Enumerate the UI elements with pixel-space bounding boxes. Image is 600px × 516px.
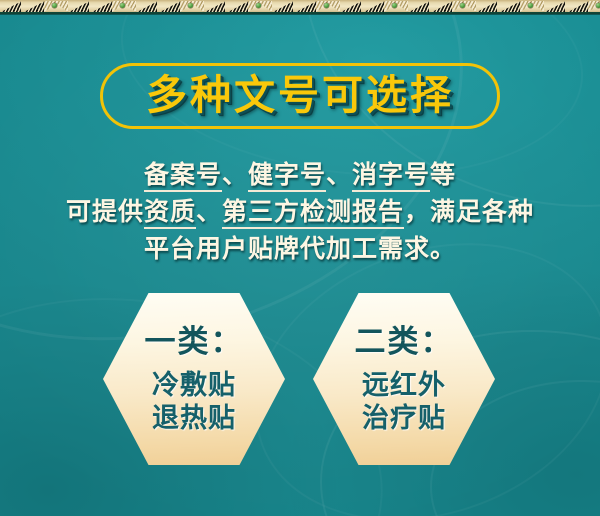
- border-jade-dot-icon: [596, 3, 600, 8]
- border-triangle-icon: [24, 1, 44, 12]
- border-triangle-icon: [409, 1, 429, 12]
- border-jade-dot-icon: [324, 3, 329, 8]
- category-one-items: 冷敷贴 退热贴: [152, 369, 236, 435]
- border-triangle-icon: [69, 1, 89, 12]
- category-one-item-2: 退热贴: [152, 402, 236, 435]
- description-line-2: 可提供资质、第三方检测报告，满足各种: [0, 194, 600, 231]
- border-triangle-icon: [1, 1, 21, 12]
- border-triangle-icon: [273, 1, 293, 12]
- category-two-item-2: 治疗贴: [362, 402, 446, 435]
- promo-poster: 多种文号可选择 备案号、健字号、消字号等 可提供资质、第三方检测报告，满足各种 …: [0, 0, 600, 516]
- border-triangle-icon: [228, 1, 248, 12]
- description-line-1: 备案号、健字号、消字号等: [0, 157, 600, 194]
- line2-tail: ，满足各种: [404, 199, 534, 226]
- border-jade-dot-icon: [460, 3, 465, 8]
- border-triangle-icon: [160, 1, 180, 12]
- border-triangle-icon: [545, 1, 565, 12]
- border-triangle-icon: [137, 1, 157, 12]
- border-jade-dot-icon: [392, 3, 397, 8]
- border-triangle-icon: [568, 1, 588, 12]
- line2-head: 可提供: [66, 199, 144, 226]
- ornamental-top-border: [0, 0, 600, 15]
- third-party-report-term: 第三方检测报告: [222, 199, 404, 229]
- category-one-item-1: 冷敷贴: [152, 369, 236, 402]
- category-two-items: 远红外 治疗贴: [362, 369, 446, 435]
- page-title: 多种文号可选择: [0, 69, 600, 121]
- border-jade-dot-icon: [256, 3, 261, 8]
- border-jade-dot-icon: [188, 3, 193, 8]
- border-jade-dot-icon: [120, 3, 125, 8]
- qualification-term: 资质: [144, 199, 196, 229]
- border-jade-dot-icon: [52, 3, 57, 8]
- description-line-3: 平台用户贴牌代加工需求。: [0, 231, 600, 268]
- separator: 、: [222, 162, 248, 189]
- border-triangle-icon: [341, 1, 361, 12]
- border-triangle-icon: [432, 1, 452, 12]
- border-triangle-icon: [477, 1, 497, 12]
- doc-type-xiaozi: 消字号: [352, 162, 430, 192]
- border-triangle-icon: [296, 1, 316, 12]
- separator: 、: [326, 162, 352, 189]
- line1-tail: 等: [430, 162, 456, 189]
- description-block: 备案号、健字号、消字号等 可提供资质、第三方检测报告，满足各种 平台用户贴牌代加…: [0, 157, 600, 268]
- doc-type-beian: 备案号: [144, 162, 222, 192]
- category-one-title: 一类：: [145, 324, 244, 360]
- border-triangle-icon: [364, 1, 384, 12]
- category-two-item-1: 远红外: [362, 369, 446, 402]
- category-two-title: 二类：: [355, 324, 454, 360]
- doc-type-jianzi: 健字号: [248, 162, 326, 192]
- separator: 、: [196, 199, 222, 226]
- border-underline: [0, 12, 600, 15]
- border-triangle-icon: [205, 1, 225, 12]
- border-jade-dot-icon: [528, 3, 533, 8]
- border-triangle-icon: [500, 1, 520, 12]
- border-triangle-icon: [92, 1, 112, 12]
